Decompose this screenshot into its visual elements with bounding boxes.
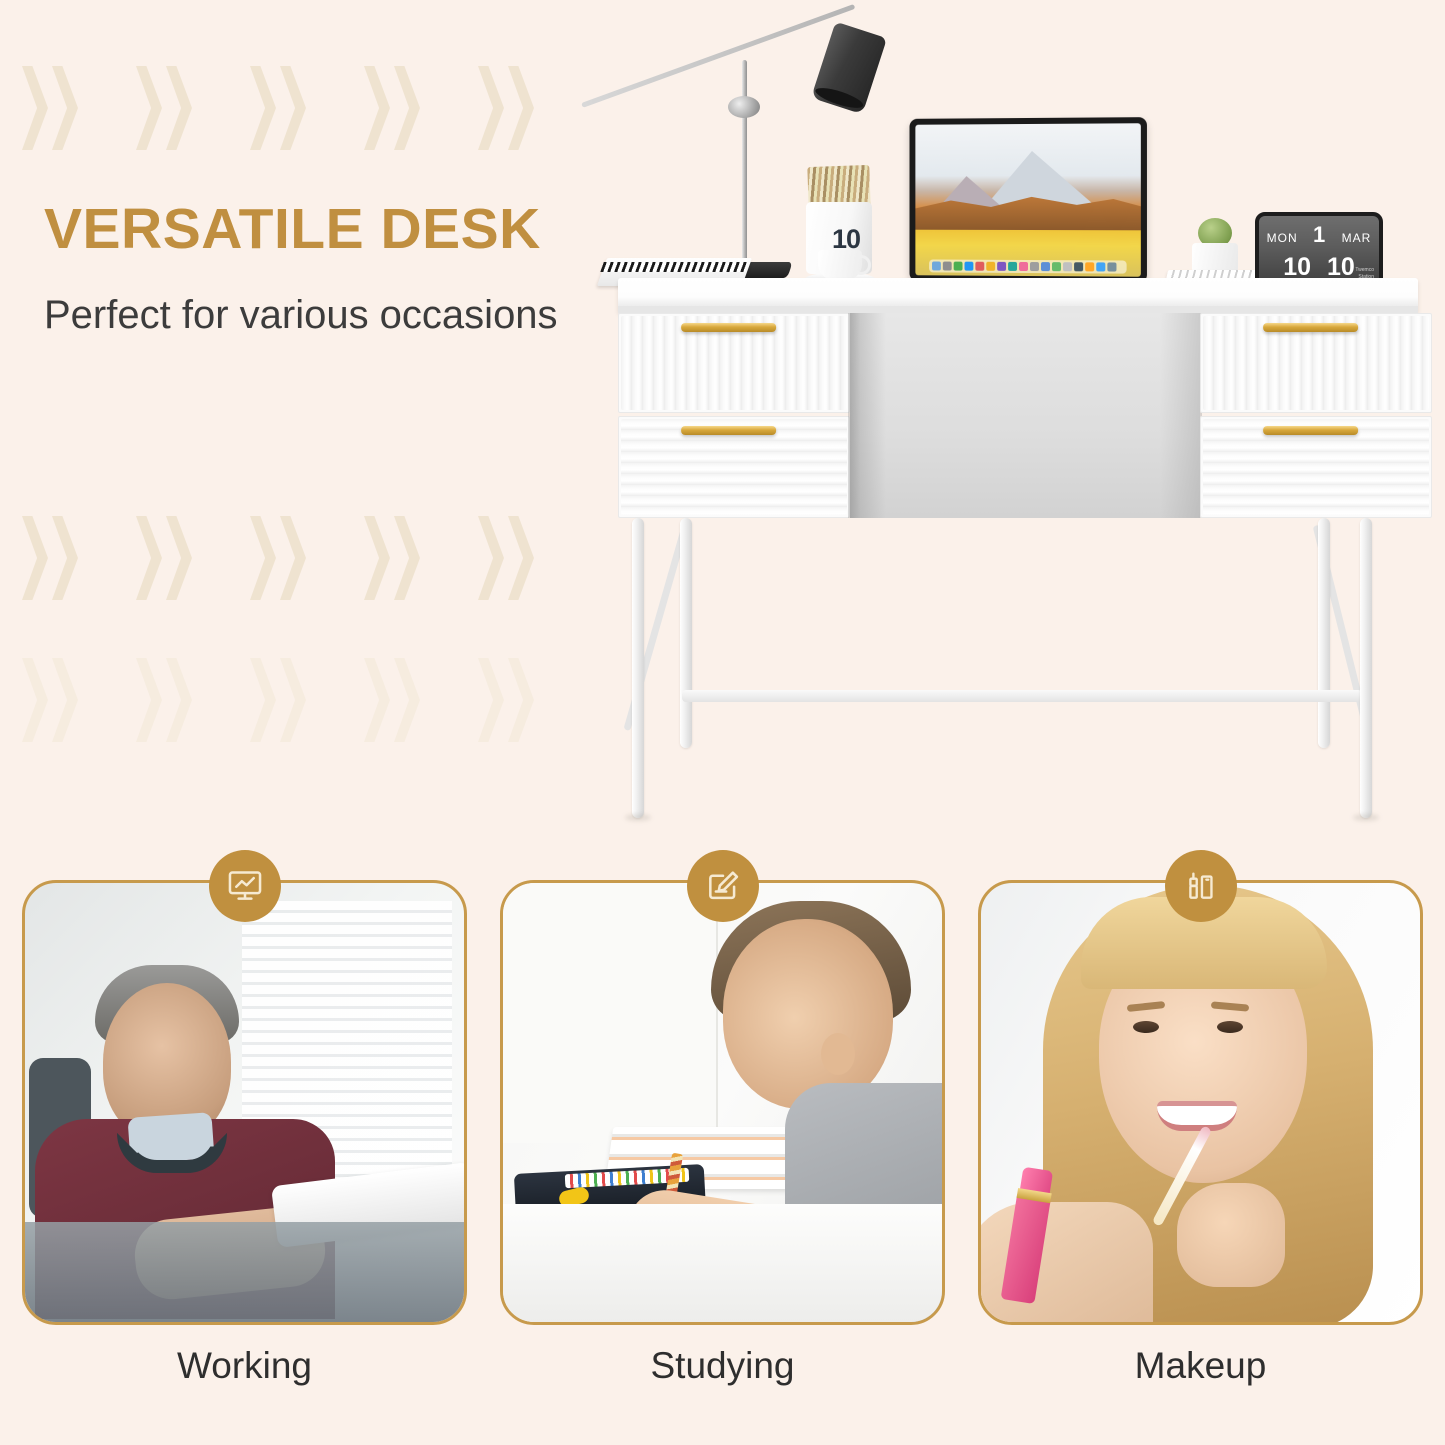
- dock-icon: [932, 261, 941, 270]
- chevron-icon: [478, 658, 550, 742]
- dock-icon: [942, 262, 951, 271]
- photo-studying: [500, 880, 945, 1325]
- chevron-icon: [478, 66, 550, 150]
- clock-date: 1: [1313, 224, 1326, 246]
- drawer-handle-icon[interactable]: [681, 426, 776, 435]
- woman-smile: [1157, 1101, 1237, 1131]
- drawer-left-bottom[interactable]: [618, 416, 850, 518]
- cabinet-shadow: [848, 313, 860, 518]
- dock-icon: [1041, 262, 1050, 271]
- dock-icon: [1096, 262, 1105, 271]
- drawer-cabinet-left: [618, 313, 850, 518]
- chevron-icon: [22, 658, 94, 742]
- woman-hand: [1177, 1183, 1285, 1287]
- desk-leg-back-left: [680, 518, 692, 748]
- notebook-spiral-icon: [600, 262, 749, 272]
- chevron-icon: [364, 658, 436, 742]
- card-studying[interactable]: Studying: [500, 880, 945, 1445]
- clock-weekday: MON: [1267, 231, 1298, 245]
- drawer-cabinet-right: [1200, 313, 1432, 518]
- card-makeup[interactable]: Makeup: [978, 880, 1423, 1445]
- foot-shadow: [625, 814, 651, 821]
- dock-icon: [1052, 262, 1061, 271]
- dock-icon: [986, 262, 995, 271]
- photo-working: [22, 880, 467, 1325]
- use-case-cards: Working Studying: [0, 880, 1445, 1445]
- card-label-studying: Studying: [500, 1345, 945, 1387]
- drawer-left-top[interactable]: [618, 313, 850, 413]
- drawer-handle-icon[interactable]: [1263, 323, 1358, 332]
- woman-shoulder: [978, 1202, 1153, 1322]
- note-pencil-icon: [687, 850, 759, 922]
- chevron-icon: [250, 516, 322, 600]
- woman-eye: [1133, 1021, 1159, 1033]
- lamp-shade-icon: [811, 22, 887, 115]
- monitor-chart-icon: [209, 850, 281, 922]
- page-title: VERSATILE DESK: [44, 200, 644, 260]
- desk-center-panel: [850, 313, 1200, 518]
- desk-leg-front-left: [632, 518, 644, 818]
- dock-icon: [1074, 262, 1083, 271]
- lamp-joint-icon: [728, 96, 760, 118]
- headline-block: VERSATILE DESK Perfect for various occas…: [44, 200, 644, 344]
- foot-shadow: [1353, 814, 1379, 821]
- desk-surface: [503, 1204, 945, 1322]
- dock-icon: [1085, 262, 1094, 271]
- page-subtitle: Perfect for various occasions: [44, 286, 644, 344]
- child-head: [723, 919, 893, 1109]
- card-working[interactable]: Working: [22, 880, 467, 1445]
- chevron-icon: [136, 658, 208, 742]
- desk-center-shadow: [1160, 313, 1202, 518]
- dock-icon: [1008, 262, 1017, 271]
- chevron-row-bottom: [22, 658, 550, 742]
- laptop-icon: [910, 117, 1147, 283]
- chevron-row-top: [22, 66, 550, 150]
- dock-icon: [1063, 262, 1072, 271]
- card-label-makeup: Makeup: [978, 1345, 1423, 1387]
- child-ear: [821, 1033, 855, 1075]
- drawer-right-top[interactable]: [1200, 313, 1432, 413]
- lamp-pole-icon: [742, 60, 747, 266]
- chevron-icon: [22, 516, 94, 600]
- dock-icon: [953, 262, 962, 271]
- room-wall: [503, 883, 718, 1143]
- drawer-handle-icon[interactable]: [1263, 426, 1358, 435]
- dock-icon: [964, 262, 973, 271]
- dock-icon: [1107, 262, 1116, 271]
- chevron-icon: [22, 66, 94, 150]
- chevron-row-middle: [22, 516, 550, 600]
- laptop-dock: [929, 259, 1127, 273]
- chevron-icon: [364, 66, 436, 150]
- chevron-icon: [136, 516, 208, 600]
- glass-desk-surface: [22, 1222, 467, 1322]
- dock-icon: [975, 262, 984, 271]
- chevron-icon: [478, 516, 550, 600]
- dock-icon: [1019, 262, 1028, 271]
- chevron-icon: [250, 658, 322, 742]
- chevron-icon: [136, 66, 208, 150]
- photo-makeup: [978, 880, 1423, 1325]
- product-scene: 10: [560, 0, 1445, 860]
- clock-month: MAR: [1342, 231, 1372, 245]
- card-label-working: Working: [22, 1345, 467, 1387]
- dock-icon: [1030, 262, 1039, 271]
- laptop-wallpaper: [915, 123, 1140, 277]
- woman-eye: [1217, 1021, 1243, 1033]
- lipstick-cosmetics-icon: [1165, 850, 1237, 922]
- desk-leg-front-right: [1360, 518, 1372, 818]
- desk-leg-back-right: [1318, 518, 1330, 748]
- chevron-icon: [364, 516, 436, 600]
- drawer-handle-icon[interactable]: [681, 323, 776, 332]
- coffee-cup-icon: [818, 250, 862, 280]
- drawer-right-bottom[interactable]: [1200, 416, 1432, 518]
- dock-icon: [997, 262, 1006, 271]
- chevron-icon: [250, 66, 322, 150]
- desk-stretcher-bar: [682, 690, 1362, 702]
